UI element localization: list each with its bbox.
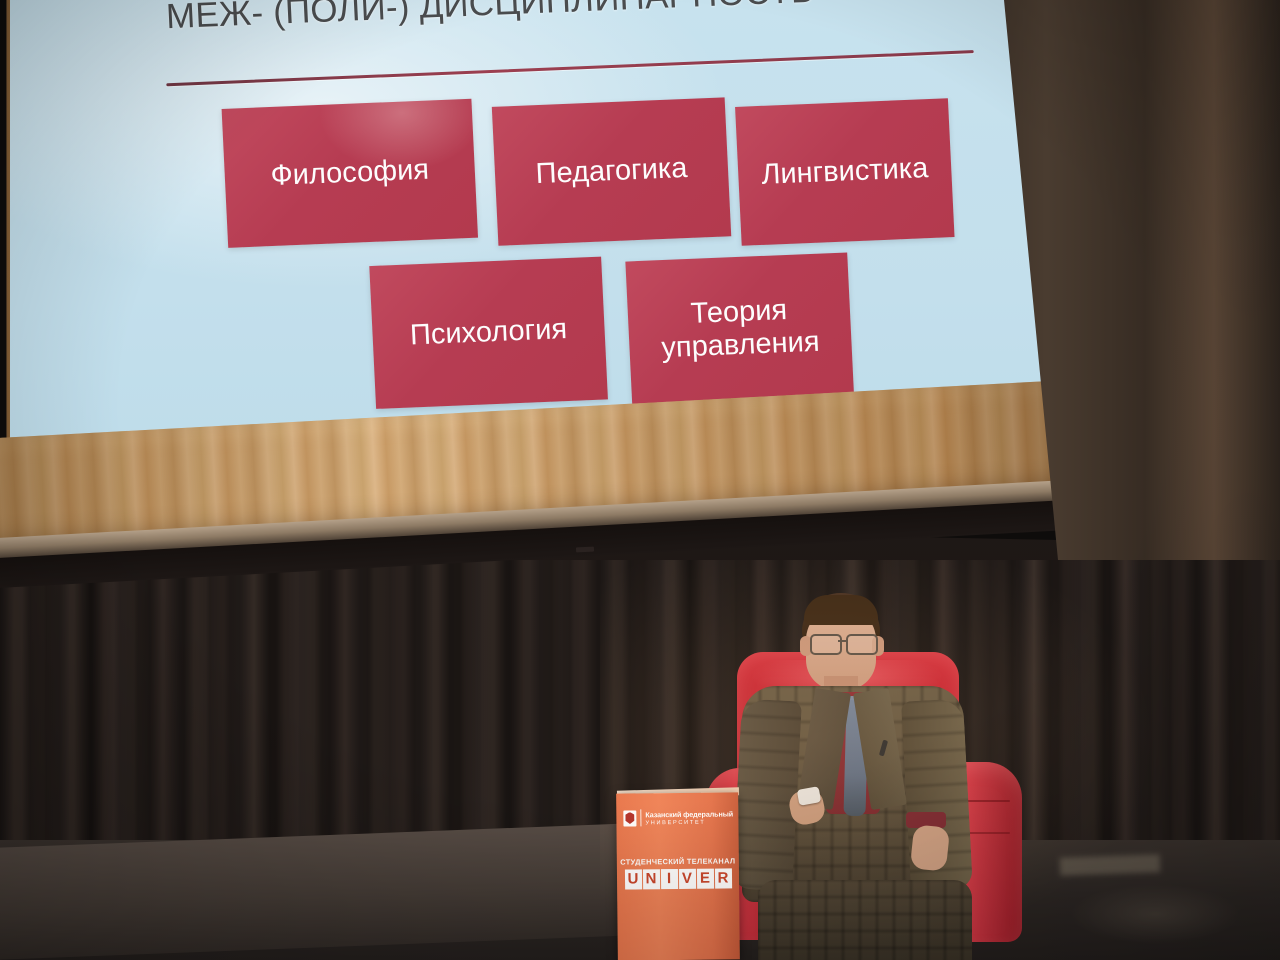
univer-letter-e: E [696,869,713,889]
univer-letter-r: R [714,868,731,888]
slide-box-management-line2: управления [661,325,821,364]
speaker-hair-fringe [804,595,878,625]
ledge-marking [576,547,594,553]
univer-letter-v: V [678,869,695,889]
univer-channel-label: СТУДЕНЧЕСКИЙ ТЕЛЕКАНАЛ [617,856,739,866]
eyeglasses-right-lens-icon [846,634,878,655]
kfu-logo-divider [640,809,641,826]
slide-box-philosophy: Философия [222,99,478,248]
kfu-logo-text: Казанский федеральный УНИВЕРСИТЕТ [645,809,733,826]
stage-photo-scene: МЕЖ- (ПОЛИ-) ДИСЦИПЛИНАРНОСТЬ Философия … [0,0,1280,960]
univer-wordmark: UNIVER [617,868,739,889]
podium-banner: Казанский федеральный УНИВЕРСИТЕТ СТУДЕН… [616,792,740,960]
slide-box-management: Теория управления [625,252,854,404]
univer-channel-logo: СТУДЕНЧЕСКИЙ ТЕЛЕКАНАЛ UNIVER [617,856,739,889]
eyeglasses-bridge-icon [838,640,847,642]
speaker-legs [758,880,972,960]
univer-letter-i: I [660,869,677,889]
speaker-right-hand [910,824,950,872]
slide-title-rule [166,50,973,86]
kfu-crest-icon [623,810,636,826]
univer-letter-u: U [624,869,641,889]
slide-box-pedagogy: Педагогика [492,97,731,245]
kfu-university-line2: УНИВЕРСИТЕТ [645,819,733,826]
floor-light-patch [1060,854,1161,875]
slide-box-linguistics: Лингвистика [735,98,954,246]
slide-box-psychology: Психология [369,257,608,409]
univer-letter-n: N [642,869,659,889]
eyeglasses-left-lens-icon [810,634,842,655]
kfu-university-line1: Казанский федеральный [645,809,733,819]
floor-light-glow [1070,884,1240,944]
slide-title: МЕЖ- (ПОЛИ-) ДИСЦИПЛИНАРНОСТЬ [165,0,815,37]
kfu-logo: Казанский федеральный УНИВЕРСИТЕТ [623,808,733,826]
